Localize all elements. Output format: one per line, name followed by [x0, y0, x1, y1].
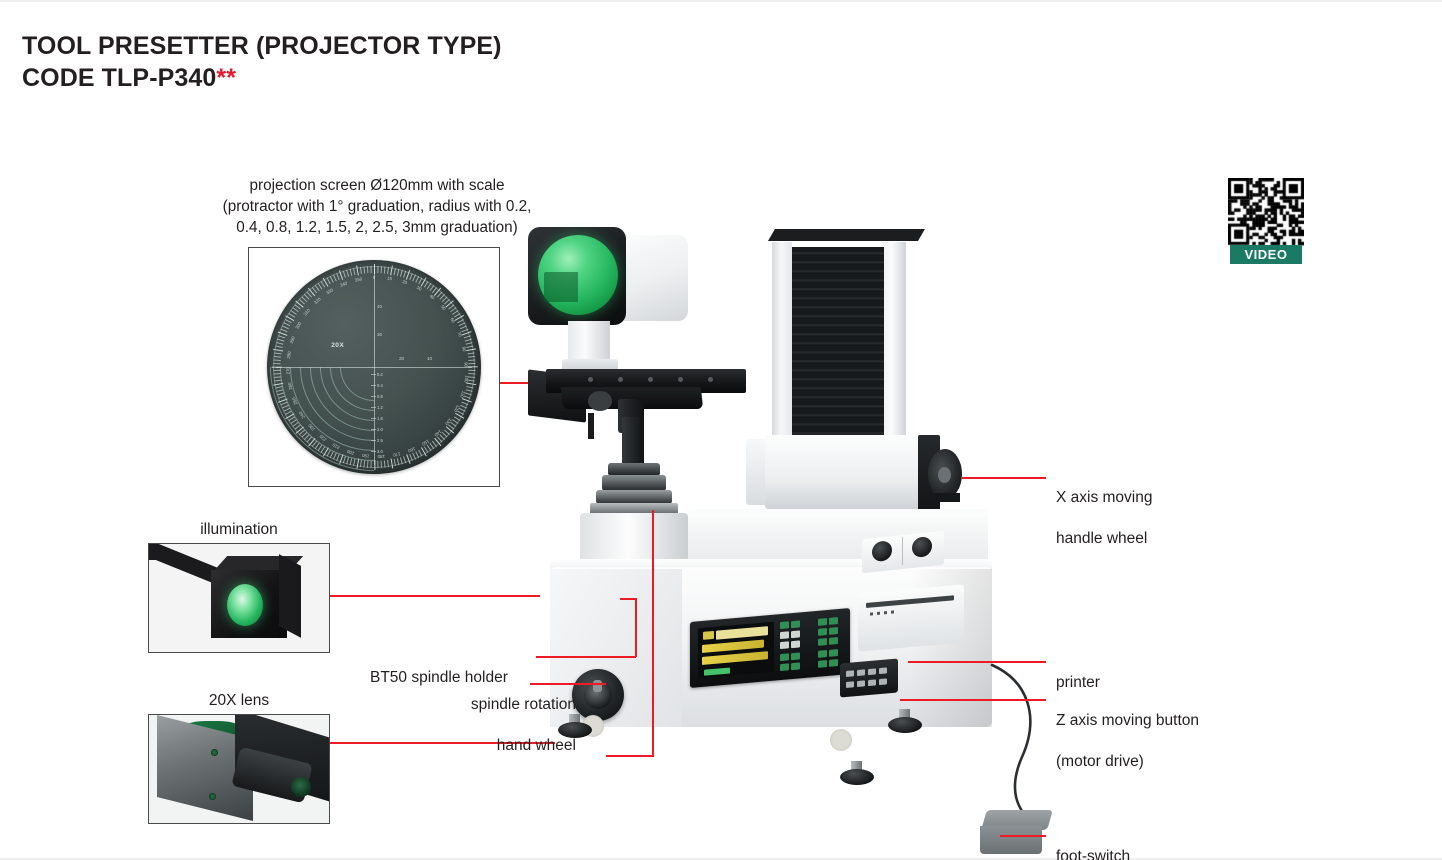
dro-display	[698, 622, 774, 679]
protractor-tick	[370, 266, 371, 273]
axis-label: 40	[377, 304, 382, 309]
radius-label: 1.5	[377, 416, 383, 421]
dro-control-panel[interactable]	[690, 608, 850, 688]
radius-label: 1.2	[377, 405, 383, 410]
leader-arm-vertical	[652, 510, 654, 756]
dro-key-12[interactable]	[829, 637, 838, 645]
callout-foot-switch-line-1: foot-switch	[1056, 847, 1130, 860]
dro-key-7[interactable]	[818, 628, 827, 636]
radius-label: 0.2	[377, 372, 383, 377]
z-key-6[interactable]	[857, 680, 865, 687]
lens-screw-2	[209, 793, 216, 800]
dro-value-line-1	[702, 640, 764, 653]
protractor-tick	[468, 370, 475, 371]
protractor-tick	[468, 366, 478, 367]
axis-label: 30	[377, 332, 382, 337]
leader-bt50-v	[635, 598, 637, 657]
x-carriage	[765, 435, 930, 509]
foot-pad-2	[888, 717, 922, 733]
arm-dot-2	[618, 377, 623, 382]
arm-dot-1	[588, 377, 593, 382]
product-code: CODE TLP-P340	[22, 64, 216, 92]
dro-key-11[interactable]	[818, 638, 827, 646]
base-plug-right	[830, 729, 852, 751]
illumination-photo	[149, 544, 329, 652]
dro-key-8[interactable]	[829, 627, 838, 635]
lens-caption: 20X lens	[148, 692, 330, 710]
spindle-handwheel-grip	[593, 680, 602, 692]
leader-bt50-tip	[620, 598, 636, 600]
x-axis-handwheel-hub	[938, 467, 951, 483]
radius-tick	[371, 385, 376, 386]
panel-knob-left[interactable]	[872, 540, 892, 562]
radius-tick	[371, 407, 376, 408]
dro-key-5[interactable]	[780, 631, 789, 639]
radius-tick	[371, 429, 376, 430]
spindle-disc-3	[596, 490, 672, 504]
axis-label: 10	[427, 356, 432, 361]
protractor-degree-label: 0	[373, 275, 375, 280]
printer-unit[interactable]	[858, 584, 964, 651]
lens-glass	[291, 777, 311, 797]
x-axis-shaft	[934, 493, 960, 502]
page-title: TOOL PRESETTER (PROJECTOR TYPE) CODE TLP…	[22, 30, 502, 94]
projector-screen-shadow	[544, 272, 578, 302]
reticle-graphic: 20X 010203040506070809010011012013014015…	[267, 260, 481, 474]
protractor-degree-label: 80	[461, 346, 467, 352]
dro-message-bar	[716, 626, 768, 640]
callout-x-axis-line-1: X axis moving	[1056, 488, 1152, 509]
callout-foot-switch: foot-switch	[1056, 826, 1130, 860]
leader-bt50-h	[536, 656, 636, 658]
dro-keypad[interactable]	[778, 615, 844, 673]
dro-key-1[interactable]	[780, 621, 789, 629]
dro-key-14[interactable]	[791, 652, 800, 660]
z-key-4[interactable]	[879, 667, 887, 674]
projection-screen-inset: 20X 010203040506070809010011012013014015…	[248, 247, 500, 487]
magnification-label: 20X	[331, 342, 344, 349]
leader-spindle-wheel	[530, 683, 606, 685]
spindle-disc-2	[602, 475, 666, 491]
foot-switch-pedal[interactable]	[980, 810, 1054, 858]
dro-key-20[interactable]	[829, 659, 838, 667]
dro-key-6[interactable]	[791, 630, 800, 638]
dro-power-indicator	[703, 631, 714, 640]
radius-label: 0.8	[377, 394, 383, 399]
leader-x-axis	[962, 477, 1046, 479]
leader-z-axis	[900, 699, 1046, 701]
arm-pin	[588, 413, 594, 439]
dro-value-line-2	[702, 651, 768, 665]
foot-switch-body	[980, 826, 1042, 854]
qr-code-icon	[1228, 178, 1304, 246]
dro-key-17[interactable]	[780, 663, 789, 671]
illum-lamp	[227, 584, 263, 626]
protractor-degree-label: 90	[463, 362, 468, 367]
radius-tick	[371, 374, 376, 375]
radius-label: 2.5	[377, 438, 383, 443]
dro-key-3[interactable]	[818, 618, 827, 626]
title-line-2: CODE TLP-P340**	[22, 62, 502, 94]
radius-tick	[371, 418, 376, 419]
z-key-1[interactable]	[846, 670, 854, 677]
dro-key-10[interactable]	[791, 640, 800, 648]
crosshair-vertical	[374, 269, 375, 466]
protractor-degree-label: 10	[387, 276, 393, 282]
callout-spindle-line-1: spindle rotation	[408, 695, 576, 716]
machine-illustration	[510, 217, 1070, 860]
panel-knob-right[interactable]	[912, 536, 932, 558]
z-key-3[interactable]	[868, 668, 876, 675]
radius-tick	[371, 440, 376, 441]
leader-foot-switch	[1000, 835, 1046, 837]
dro-key-19[interactable]	[818, 660, 827, 668]
callout-z-axis-line-2: (motor drive)	[1056, 752, 1199, 773]
radius-label: 2.0	[377, 427, 383, 432]
protractor-degree-label: 180	[378, 454, 385, 459]
illum-cube-side	[279, 554, 301, 638]
leader-illumination	[330, 595, 540, 597]
radius-tick	[371, 396, 376, 397]
knob-divider	[902, 537, 903, 565]
radius-label: 3.0	[377, 449, 383, 454]
callout-z-axis-button: Z axis moving button (motor drive)	[1056, 690, 1199, 793]
foot-pad-3	[840, 769, 874, 785]
caption-line-2: (protractor with 1° graduation, radius w…	[186, 197, 568, 218]
arm-dot-3	[648, 377, 653, 382]
illum-arm-end	[148, 550, 171, 560]
dro-status-row	[704, 667, 730, 675]
leader-arm-bottom	[606, 755, 654, 757]
dro-key-13[interactable]	[780, 653, 789, 661]
printer-paper-slot	[866, 595, 954, 608]
callout-x-axis-wheel: X axis moving handle wheel	[1056, 467, 1152, 570]
dro-key-18[interactable]	[791, 662, 800, 670]
lens-screw-1	[211, 749, 218, 756]
dro-key-16[interactable]	[829, 649, 838, 657]
radius-tick	[371, 451, 376, 452]
radius-label: 0.4	[377, 383, 383, 388]
arm-aperture	[588, 391, 612, 411]
protractor-tick	[374, 460, 375, 470]
dro-key-4[interactable]	[829, 617, 838, 625]
protractor-tick	[274, 363, 281, 364]
leader-printer	[908, 661, 1046, 663]
protractor-tick	[374, 264, 375, 274]
spindle-shaft	[622, 417, 644, 467]
dro-key-2[interactable]	[791, 620, 800, 628]
qr-code-canvas	[1228, 178, 1304, 246]
protractor-tick	[377, 461, 378, 468]
callout-spindle-wheel: spindle rotation hand wheel	[408, 674, 576, 777]
title-line-1: TOOL PRESETTER (PROJECTOR TYPE)	[22, 30, 502, 62]
axis-label: 20	[399, 356, 404, 361]
z-key-7[interactable]	[868, 679, 876, 686]
dro-key-9[interactable]	[780, 641, 789, 649]
radius-arc	[270, 367, 374, 471]
z-key-2[interactable]	[857, 669, 865, 676]
video-qr-badge[interactable]: VIDEO	[1228, 178, 1304, 264]
lens-inset	[148, 714, 330, 824]
caption-line-1: projection screen Ø120mm with scale	[186, 176, 568, 197]
z-key-5[interactable]	[846, 681, 854, 688]
printer-indicator-lights	[870, 610, 896, 615]
lens-photo	[149, 715, 329, 823]
z-key-8[interactable]	[879, 678, 887, 685]
callout-x-axis-line-2: handle wheel	[1056, 529, 1152, 550]
dro-key-15[interactable]	[818, 650, 827, 658]
arm-dot-4	[678, 377, 683, 382]
z-axis-keypad[interactable]	[840, 658, 898, 697]
callout-spindle-line-2: hand wheel	[408, 736, 576, 757]
video-label: VIDEO	[1245, 247, 1288, 262]
video-banner: VIDEO	[1230, 245, 1302, 264]
product-spec-page: TOOL PRESETTER (PROJECTOR TYPE) CODE TLP…	[0, 0, 1442, 860]
illumination-caption: illumination	[148, 521, 330, 539]
illumination-inset	[148, 543, 330, 653]
arm-dot-5	[708, 377, 713, 382]
code-asterisks: **	[216, 64, 236, 92]
callout-z-axis-line-1: Z axis moving button	[1056, 711, 1199, 732]
